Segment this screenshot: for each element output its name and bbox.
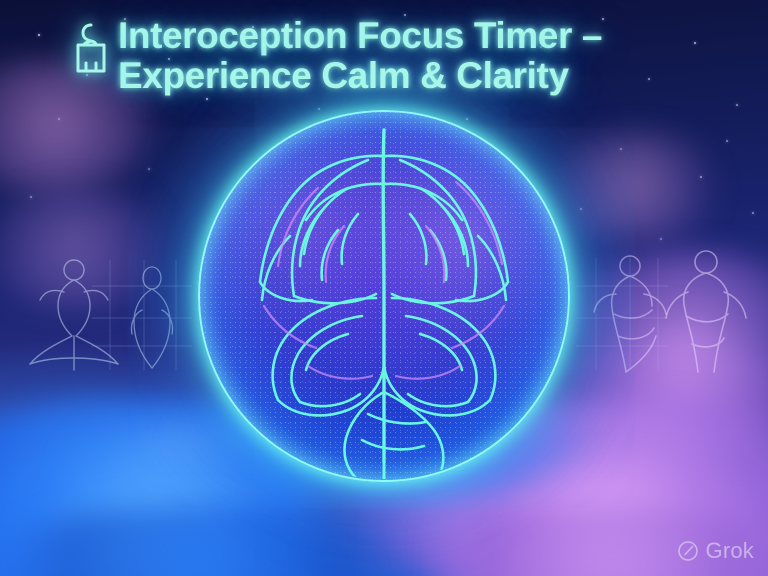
grok-watermark: Grok [677,538,754,564]
title-line-2: Experience Calm & Clarity [118,56,602,96]
grok-logo-icon [677,540,699,562]
yoga-figure-left-outer-icon [18,252,128,374]
title-line-1: Interoception Focus Timer – [118,16,602,56]
body-figure-icon [74,22,108,74]
title-block: Interoception Focus Timer – Experience C… [118,16,602,95]
poster-canvas: Interoception Focus Timer – Experience C… [0,0,768,576]
grok-label: Grok [706,538,754,564]
yoga-figure-right-outer-icon [658,246,754,376]
page-title: Interoception Focus Timer – Experience C… [74,16,602,95]
brain-sphere [198,110,570,482]
sphere-rim [198,110,570,482]
